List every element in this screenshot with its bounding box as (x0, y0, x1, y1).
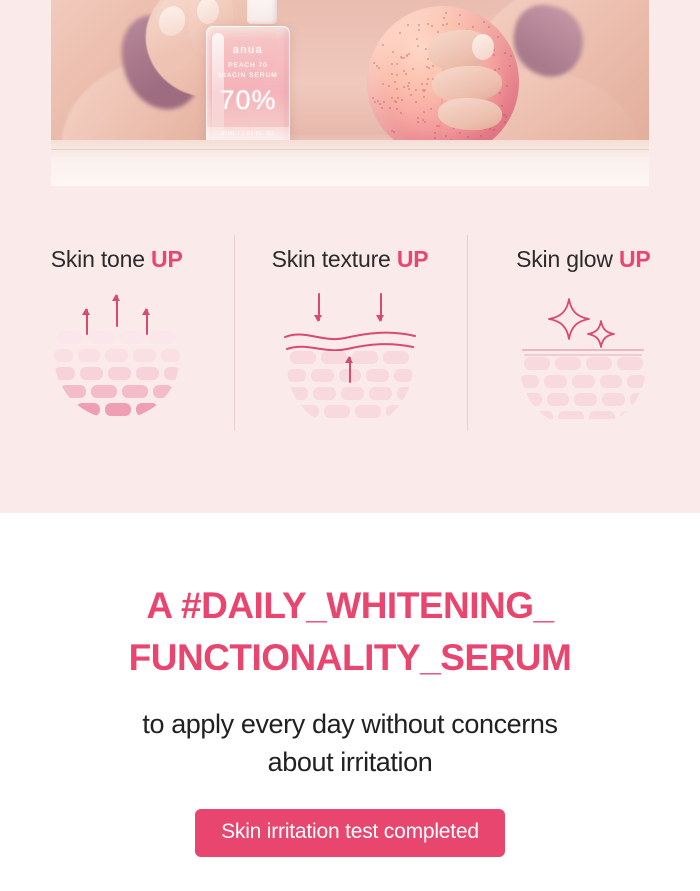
benefit-column-skin-tone: Skin tone UP (0, 186, 233, 513)
skin-dome-bricks (54, 331, 180, 419)
peach-speckle (372, 97, 374, 99)
peach-speckle (391, 73, 393, 75)
brick-cell (589, 411, 615, 419)
promo-headline-line-1: A #DAILY_WHITENING_ (0, 580, 700, 632)
peach-speckle (445, 12, 447, 14)
brick-cell (78, 349, 101, 362)
peach-speckle (373, 62, 375, 64)
brick-cell (383, 351, 409, 364)
peach-speckle (412, 68, 414, 70)
photo-cloth-surface (51, 140, 649, 186)
peach-speckle (408, 88, 410, 90)
peach-speckle (446, 23, 448, 25)
peach-speckle (391, 97, 393, 99)
brick-cell (136, 403, 158, 416)
peach-speckle (378, 67, 380, 69)
peach-speckle (399, 32, 401, 34)
peach-speckle (374, 101, 376, 103)
peach-speckle (467, 136, 469, 138)
brick-cell (527, 411, 553, 419)
peach-speckle (415, 101, 417, 103)
brick-cell (161, 349, 180, 362)
brick-row (287, 387, 413, 400)
promo-subline: to apply every day without concerns abou… (0, 705, 700, 781)
skin-tone-arrows-up-icon (37, 285, 197, 425)
brick-row (520, 393, 646, 406)
peach-speckle (421, 83, 423, 85)
brick-cell (352, 351, 378, 364)
benefit-title-skin-tone: Skin tone UP (51, 246, 183, 273)
brick-row (520, 411, 646, 419)
peach-speckle (408, 82, 410, 84)
brick-cell (544, 375, 567, 388)
peach-speckle (396, 88, 398, 90)
brick-cell (293, 405, 319, 418)
brick-cell (108, 367, 131, 380)
peach-speckle (391, 63, 393, 65)
peach-speckle (388, 85, 390, 87)
peach-speckle (401, 99, 403, 101)
peach-speckle (422, 119, 424, 121)
bottle-line-2-text: NIACIN SERUM (207, 72, 289, 79)
peach-speckle (394, 81, 396, 83)
peach-speckle (416, 38, 418, 40)
brick-cell (164, 367, 180, 380)
brick-row (54, 403, 180, 416)
brick-row (54, 349, 180, 362)
brick-cell (122, 385, 148, 398)
peach-speckle (379, 103, 381, 105)
peach-speckle (396, 63, 398, 65)
arrow-up-center-icon (349, 357, 351, 383)
peach-speckle (376, 65, 378, 67)
brick-row (54, 367, 180, 380)
benefit-label-skin-tone: Skin tone (51, 246, 145, 272)
peach-speckle (425, 48, 427, 50)
brick-cell (394, 369, 413, 382)
peach-speckle (418, 29, 420, 31)
peach-speckle (408, 53, 410, 55)
brick-cell (313, 387, 336, 400)
promo-subline-line-1: to apply every day without concerns (0, 705, 700, 743)
brick-cell (558, 411, 584, 419)
skin-dome-bricks (520, 357, 646, 419)
brick-cell (290, 351, 316, 364)
peach-speckle (417, 117, 419, 119)
right-fingernail (472, 34, 494, 60)
brick-row (287, 405, 413, 418)
brick-cell (60, 385, 86, 398)
bottle-line-1-text: PEACH 70 (207, 62, 289, 69)
peach-speckle (403, 57, 405, 59)
peach-speckle (443, 17, 445, 19)
sparkle-star-icons (547, 297, 623, 351)
peach-speckle (400, 112, 402, 114)
peach-speckle (458, 23, 460, 25)
peach-speckle (397, 97, 399, 99)
brick-cell (574, 393, 597, 406)
benefit-title-skin-texture: Skin texture UP (272, 246, 429, 273)
right-finger-3 (437, 97, 502, 131)
brick-cell (119, 331, 145, 344)
peach-speckle (418, 24, 420, 26)
brick-cell (80, 367, 103, 380)
peach-speckle (417, 45, 419, 47)
peach-speckle (427, 23, 429, 25)
brick-cell (287, 387, 308, 400)
promo-headline: A #DAILY_WHITENING_ FUNCTIONALITY_SERUM (0, 580, 700, 684)
benefit-label-skin-texture: Skin texture (272, 246, 391, 272)
brick-cell (54, 367, 75, 380)
peach-speckle (396, 74, 398, 76)
brick-cell (366, 369, 389, 382)
peach-speckle (396, 108, 398, 110)
peach-speckle (483, 21, 485, 23)
brick-cell (524, 357, 550, 370)
peach-speckle (417, 121, 419, 123)
peach-speckle (403, 86, 405, 88)
brick-cell (88, 331, 114, 344)
brick-cell (105, 349, 128, 362)
benefit-column-skin-glow: Skin glow UP (467, 186, 700, 513)
brick-cell (397, 387, 413, 400)
brick-cell (57, 331, 83, 344)
skin-texture-waves-icon (270, 285, 430, 425)
brick-row (520, 357, 646, 370)
brick-row (54, 385, 180, 398)
promo-headline-line-2: FUNCTIONALITY_SERUM (0, 632, 700, 684)
brick-cell (133, 349, 156, 362)
benefit-emphasis-skin-texture: UP (397, 246, 429, 272)
brick-cell (520, 393, 541, 406)
brick-cell (572, 375, 595, 388)
brick-cell (620, 411, 640, 419)
peach-speckle (424, 121, 426, 123)
benefit-emphasis-skin-glow: UP (619, 246, 651, 272)
brick-cell (150, 331, 176, 344)
peach-speckle (382, 83, 384, 85)
peach-speckle (383, 101, 385, 103)
peach-speckle (407, 85, 409, 87)
arrow-up-center-icon (116, 295, 118, 327)
brick-cell (617, 357, 643, 370)
benefit-column-skin-texture: Skin texture UP (233, 186, 466, 513)
peach-speckle (407, 24, 409, 26)
benefit-emphasis-skin-tone: UP (151, 246, 183, 272)
brick-cell (76, 403, 100, 416)
brick-cell (369, 387, 392, 400)
benefit-title-skin-glow: Skin glow UP (516, 246, 650, 273)
brick-cell (547, 393, 570, 406)
product-detail-page: anua PEACH 70 NIACIN SERUM 70% 30ML / 1.… (0, 0, 700, 891)
skin-glow-sparkles-icon (503, 285, 663, 425)
brick-cell (321, 351, 347, 364)
peach-speckle (406, 55, 408, 57)
brick-cell (287, 369, 306, 382)
glow-surface-line-2 (524, 354, 642, 356)
brick-cell (324, 405, 350, 418)
brick-cell (105, 403, 131, 416)
brick-cell (630, 393, 646, 406)
peach-speckle (423, 111, 425, 113)
peach-speckle (389, 107, 391, 109)
peach-speckle (393, 131, 395, 133)
brick-cell (627, 375, 646, 388)
photo-cloth-edge (51, 149, 649, 150)
brick-cell (91, 385, 117, 398)
peach-speckle (434, 137, 436, 139)
benefit-label-skin-glow: Skin glow (516, 246, 613, 272)
brick-cell (136, 367, 159, 380)
brick-cell (341, 387, 364, 400)
peach-speckle (410, 94, 412, 96)
photo-right-hand (428, 26, 524, 136)
peach-speckle (415, 89, 417, 91)
brick-cell (355, 405, 381, 418)
serum-bottle: anua PEACH 70 NIACIN SERUM 70% 30ML / 1.… (206, 26, 290, 154)
peach-speckle (423, 90, 425, 92)
glow-surface-line (522, 349, 644, 351)
brick-cell (555, 357, 581, 370)
bottle-percent-text: 70% (207, 85, 289, 116)
serum-dropper-cap (247, 0, 277, 24)
cta-container: Skin irritation test completed (0, 809, 700, 857)
brick-cell (600, 375, 623, 388)
promo-subline-line-2: about irritation (0, 743, 700, 781)
brick-cell (586, 357, 612, 370)
brick-row (520, 375, 646, 388)
peach-speckle (403, 70, 405, 72)
bottle-brand-text: anua (207, 44, 289, 56)
brick-cell (602, 393, 625, 406)
promo-section: A #DAILY_WHITENING_ FUNCTIONALITY_SERUM … (0, 513, 700, 891)
brick-cell (520, 375, 539, 388)
peach-speckle (405, 73, 407, 75)
peach-speckle (423, 96, 425, 98)
brick-cell (311, 369, 334, 382)
brick-row (54, 331, 180, 344)
brick-cell (386, 405, 406, 418)
brick-cell (153, 385, 173, 398)
peach-speckle (459, 14, 461, 16)
arrow-down-left-icon (318, 293, 320, 321)
hero-product-photo: anua PEACH 70 NIACIN SERUM 70% 30ML / 1.… (51, 0, 649, 186)
skin-irritation-test-badge[interactable]: Skin irritation test completed (195, 809, 505, 857)
peach-speckle (392, 51, 394, 53)
brick-cell (54, 349, 73, 362)
benefits-row: Skin tone UP Skin texture UP (0, 186, 700, 513)
peach-speckle (381, 107, 383, 109)
arrow-down-right-icon (380, 293, 382, 321)
peach-speckle (395, 101, 397, 103)
peach-speckle (382, 44, 384, 46)
